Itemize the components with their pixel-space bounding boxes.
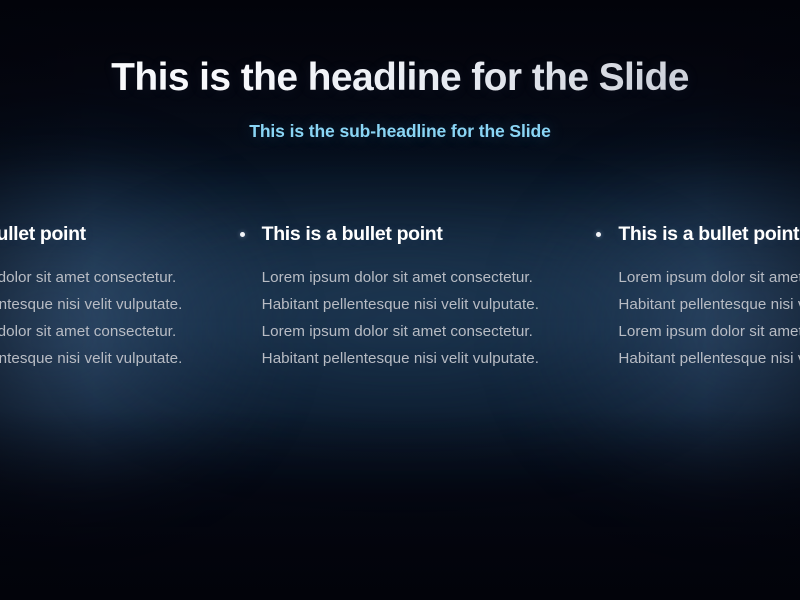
bullet-column-1: This is a bullet point Lorem ipsum dolor… xyxy=(0,222,222,372)
bullet-title: This is a bullet point xyxy=(618,222,799,246)
presentation-slide: This is the headline for the Slide This … xyxy=(0,0,800,600)
bullet-dot-icon xyxy=(240,222,262,246)
bullet-title: This is a bullet point xyxy=(262,222,443,246)
bullet-heading: This is a bullet point xyxy=(596,222,800,246)
page-title: This is the headline for the Slide xyxy=(0,56,800,101)
bullet-heading: This is a bullet point xyxy=(240,222,561,246)
slide-header: This is the headline for the Slide This … xyxy=(0,56,800,142)
bullet-heading: This is a bullet point xyxy=(0,222,204,246)
bullet-body-text: Lorem ipsum dolor sit amet consectetur. … xyxy=(0,265,204,372)
bullet-columns: This is a bullet point Lorem ipsum dolor… xyxy=(0,222,800,372)
bullet-column-2: This is a bullet point Lorem ipsum dolor… xyxy=(222,222,579,372)
bullet-title: This is a bullet point xyxy=(0,222,86,246)
page-subtitle: This is the sub-headline for the Slide xyxy=(0,121,800,142)
bullet-column-3: This is a bullet point Lorem ipsum dolor… xyxy=(578,222,800,372)
bullet-body-text: Lorem ipsum dolor sit amet consectetur. … xyxy=(618,265,800,372)
bullet-body-text: Lorem ipsum dolor sit amet consectetur. … xyxy=(262,265,561,372)
bullet-dot-icon xyxy=(596,222,618,246)
